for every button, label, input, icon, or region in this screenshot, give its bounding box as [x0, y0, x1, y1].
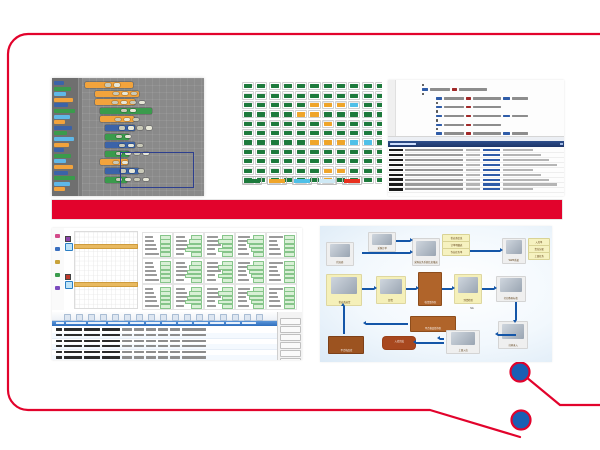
status-cell[interactable]: [255, 157, 267, 165]
status-cell[interactable]: [335, 91, 347, 99]
status-cell[interactable]: [348, 82, 360, 90]
palette-item-any-component[interactable]: [54, 187, 65, 191]
form-value[interactable]: [253, 304, 264, 309]
status-cell[interactable]: [362, 157, 374, 165]
palette-item-screen1[interactable]: [54, 126, 72, 130]
flow-node-icon: [380, 279, 401, 294]
code-token: [430, 88, 450, 90]
status-cell[interactable]: [362, 101, 374, 109]
grid-header-cell[interactable]: [88, 322, 106, 324]
toolbar-button-find[interactable]: [208, 314, 215, 321]
block-socket[interactable]: [146, 126, 152, 129]
palette-item-control[interactable]: [54, 81, 64, 85]
status-cell[interactable]: [362, 120, 374, 128]
status-cell[interactable]: [282, 101, 294, 109]
sheet-tool-rail[interactable]: [52, 228, 64, 310]
status-cell[interactable]: [295, 166, 307, 174]
palette-item-text[interactable]: [54, 98, 73, 102]
toolbar-button-settings[interactable]: [244, 314, 251, 321]
status-cell[interactable]: [282, 110, 294, 118]
status-cell[interactable]: [242, 129, 254, 137]
rail-icon[interactable]: [55, 234, 60, 238]
status-cell[interactable]: [322, 91, 334, 99]
form-label: [238, 279, 249, 281]
status-cell[interactable]: [255, 91, 267, 99]
toolbar-button-open[interactable]: [76, 314, 83, 321]
status-cell[interactable]: [348, 166, 360, 174]
form-group[interactable]: [235, 232, 266, 258]
code-line[interactable]: [388, 131, 564, 135]
status-cell[interactable]: [295, 101, 307, 109]
status-cell[interactable]: [308, 101, 320, 109]
status-cell[interactable]: [348, 148, 360, 156]
grid-header-cell[interactable]: [210, 322, 224, 324]
status-cell[interactable]: [362, 148, 374, 156]
status-cell[interactable]: [375, 148, 382, 156]
console-close-icon[interactable]: [560, 143, 563, 146]
form-label: [207, 274, 215, 276]
status-cell[interactable]: [322, 82, 334, 90]
flow-arrow: [362, 288, 374, 290]
palette-item-web1[interactable]: [54, 154, 71, 158]
status-cell[interactable]: [295, 129, 307, 137]
status-cell[interactable]: [335, 110, 347, 118]
flow-node-label: 不合格品库: [340, 350, 352, 353]
block-socket[interactable]: [139, 101, 145, 104]
block-socket[interactable]: [119, 126, 125, 129]
palette-item-listpicker1[interactable]: [54, 159, 66, 163]
status-cell[interactable]: [255, 129, 267, 137]
grid-header-cell[interactable]: [178, 322, 192, 324]
data-grid[interactable]: [52, 312, 302, 360]
status-cell[interactable]: [322, 101, 334, 109]
log-tag: [389, 174, 403, 176]
palette-item-notifier1[interactable]: [54, 182, 70, 186]
status-cell[interactable]: [269, 110, 281, 118]
status-cell[interactable]: [242, 157, 254, 165]
side-button-1[interactable]: [280, 326, 301, 333]
flow-node-note6[interactable]: 上架任务: [528, 252, 550, 260]
status-cell[interactable]: [348, 138, 360, 146]
table-cell: [182, 356, 206, 358]
code-token: [512, 115, 528, 117]
flow-node-supplier[interactable]: 供应商: [326, 242, 354, 266]
form-value[interactable]: [253, 252, 264, 257]
block-socket[interactable]: [128, 144, 134, 147]
status-cell[interactable]: [255, 166, 267, 174]
sheet-upper-area[interactable]: [52, 228, 302, 310]
status-cell[interactable]: [335, 157, 347, 165]
table-cell: [84, 345, 100, 347]
form-group[interactable]: [266, 232, 297, 258]
status-cell[interactable]: [362, 176, 374, 184]
block-socket[interactable]: [113, 161, 119, 164]
toolbar-button-cut[interactable]: [124, 314, 131, 321]
block-socket[interactable]: [137, 126, 143, 129]
flow-node-erp[interactable]: 采购业务系统信息推送: [412, 238, 440, 266]
status-cell[interactable]: [269, 148, 281, 156]
panel-status-grid[interactable]: [240, 80, 382, 196]
flow-node-icon: [502, 324, 523, 339]
form-value[interactable]: [160, 252, 171, 257]
log-path: [405, 174, 463, 176]
form-value[interactable]: [222, 252, 233, 257]
console-title-bar[interactable]: [388, 141, 564, 147]
form-label: [176, 305, 184, 307]
toolbar-button-help[interactable]: [256, 314, 263, 321]
form-value[interactable]: [191, 252, 202, 257]
form-value[interactable]: [222, 304, 233, 309]
status-cell[interactable]: [295, 120, 307, 128]
status-cell[interactable]: [335, 129, 347, 137]
form-group[interactable]: [173, 258, 204, 284]
toolbar-button-sort[interactable]: [196, 314, 203, 321]
status-cell[interactable]: [242, 82, 254, 90]
table-cell: [158, 334, 168, 336]
side-button-4[interactable]: [280, 350, 301, 357]
status-cell[interactable]: [322, 110, 334, 118]
status-cell[interactable]: [308, 157, 320, 165]
form-value[interactable]: [160, 278, 171, 283]
side-button-0[interactable]: [280, 318, 301, 325]
status-cell[interactable]: [295, 148, 307, 156]
blocks-palette[interactable]: [52, 78, 79, 196]
form-value[interactable]: [253, 278, 264, 283]
status-cell[interactable]: [269, 101, 281, 109]
palette-item-lists[interactable]: [54, 103, 68, 107]
flow-node-label: 卸货: [389, 300, 394, 303]
plan-marker[interactable]: [65, 236, 71, 242]
log-message: [503, 149, 533, 151]
status-cell[interactable]: [282, 82, 294, 90]
status-cell[interactable]: [255, 82, 267, 90]
palette-item-button1[interactable]: [54, 131, 67, 135]
flow-node-done[interactable]: 入库完成: [382, 336, 416, 350]
grid-header-cell[interactable]: [226, 322, 240, 324]
status-cell[interactable]: [322, 120, 334, 128]
form-group[interactable]: [204, 284, 235, 310]
status-cell[interactable]: [335, 82, 347, 90]
block-socket[interactable]: [115, 118, 121, 121]
block-socket[interactable]: [130, 101, 136, 104]
status-cell[interactable]: [308, 82, 320, 90]
block-socket[interactable]: [105, 83, 111, 86]
blocks-canvas[interactable]: [82, 78, 204, 196]
form-group[interactable]: [142, 258, 173, 284]
status-cell[interactable]: [282, 157, 294, 165]
status-cell[interactable]: [269, 82, 281, 90]
gantt-bar[interactable]: [74, 282, 138, 287]
palette-item-sound1[interactable]: [54, 165, 73, 169]
status-cell[interactable]: [362, 91, 374, 99]
rail-icon[interactable]: [55, 247, 60, 251]
palette-item-tinydb1[interactable]: [54, 148, 64, 152]
form-value[interactable]: [284, 304, 295, 309]
form-group[interactable]: [235, 258, 266, 284]
status-cell[interactable]: [375, 138, 382, 146]
flow-node-label: 打印条码标签: [504, 298, 518, 301]
status-cell[interactable]: [362, 110, 374, 118]
code-token: [436, 119, 438, 121]
status-cell[interactable]: [295, 138, 307, 146]
palette-item-logic[interactable]: [54, 87, 71, 91]
status-cell[interactable]: [362, 82, 374, 90]
status-cell[interactable]: [295, 157, 307, 165]
status-cell[interactable]: [335, 148, 347, 156]
grid-toolbar[interactable]: [52, 312, 302, 321]
status-cell[interactable]: [348, 110, 360, 118]
status-cell[interactable]: [269, 91, 281, 99]
toolbar-button-undo[interactable]: [160, 314, 167, 321]
block-socket[interactable]: [119, 144, 125, 147]
code-token: [473, 115, 501, 117]
form-value[interactable]: [191, 304, 202, 309]
status-cell[interactable]: [322, 138, 334, 146]
plan-node[interactable]: [65, 243, 73, 251]
form-group[interactable]: [235, 284, 266, 310]
flow-node-barcode[interactable]: 打印条码标签: [496, 276, 526, 302]
flow-node-inspect[interactable]: 到货检验: [454, 274, 482, 304]
log-time: [466, 164, 480, 166]
log-level: [483, 188, 500, 190]
grid-header-cell[interactable]: [194, 322, 208, 324]
palette-item-label1[interactable]: [54, 137, 74, 141]
form-label: [207, 270, 221, 272]
rail-icon[interactable]: [55, 286, 60, 290]
status-cell[interactable]: [322, 148, 334, 156]
grid-header-cell[interactable]: [66, 322, 86, 324]
toolbar-button-save[interactable]: [88, 314, 95, 321]
table-cell: [158, 340, 168, 342]
grid-header-cell[interactable]: [108, 322, 128, 324]
status-cell[interactable]: [242, 91, 254, 99]
status-cell[interactable]: [282, 148, 294, 156]
form-value[interactable]: [160, 304, 171, 309]
log-path: [405, 159, 463, 161]
flow-node-reject_store[interactable]: 不合格品库: [328, 336, 364, 354]
status-cell[interactable]: [348, 101, 360, 109]
status-cell[interactable]: [255, 138, 267, 146]
toolbar-button-print[interactable]: [100, 314, 107, 321]
status-cell[interactable]: [348, 120, 360, 128]
toolbar-button-paste[interactable]: [148, 314, 155, 321]
grid-header-cell[interactable]: [56, 322, 64, 324]
toolbar-button-redo[interactable]: [172, 314, 179, 321]
status-cell[interactable]: [255, 120, 267, 128]
status-cell[interactable]: [375, 129, 382, 137]
status-cell[interactable]: [295, 91, 307, 99]
flow-node-waiting[interactable]: 收货暂存区: [418, 272, 442, 306]
palette-item-math[interactable]: [54, 92, 66, 96]
flow-arrow-head: [437, 336, 440, 340]
side-button-3[interactable]: [280, 342, 301, 349]
form-group[interactable]: [142, 232, 173, 258]
grid-header-cell[interactable]: [130, 322, 144, 324]
form-label: [269, 253, 282, 255]
form-label: [145, 279, 159, 281]
status-cell[interactable]: [335, 138, 347, 146]
form-group[interactable]: [204, 258, 235, 284]
status-cell[interactable]: [282, 91, 294, 99]
form-value[interactable]: [191, 278, 202, 283]
block-socket[interactable]: [121, 101, 127, 104]
status-cell[interactable]: [375, 120, 382, 128]
block-socket[interactable]: [137, 144, 143, 147]
code-token: [436, 110, 438, 112]
flow-node-unload[interactable]: 卸货: [376, 276, 406, 304]
table-cell: [122, 328, 132, 330]
status-cell[interactable]: [295, 110, 307, 118]
status-cell[interactable]: [255, 148, 267, 156]
form-group[interactable]: [173, 284, 204, 310]
toolbar-button-copy[interactable]: [136, 314, 143, 321]
flow-node-icon: [500, 278, 521, 292]
toolbar-button-preview[interactable]: [112, 314, 119, 321]
status-cell[interactable]: [322, 166, 334, 174]
flow-node-note3[interactable]: 作业任务单: [442, 248, 470, 256]
status-cell[interactable]: [375, 82, 382, 90]
status-cell[interactable]: [308, 110, 320, 118]
flow-node-deliver[interactable]: 供应商送货: [326, 274, 362, 306]
form-value[interactable]: [284, 252, 295, 257]
form-label: [145, 305, 159, 307]
toolbar-button-filter[interactable]: [184, 314, 191, 321]
rail-icon[interactable]: [55, 273, 60, 277]
status-cell[interactable]: [362, 138, 374, 146]
flow-arrow-head: [363, 321, 366, 325]
block-socket[interactable]: [128, 126, 134, 129]
code-token: [436, 128, 438, 130]
status-cell[interactable]: [362, 166, 374, 174]
status-cell[interactable]: [375, 176, 382, 184]
panel-spreadsheet[interactable]: [52, 228, 302, 360]
status-cell[interactable]: [308, 129, 320, 137]
status-cell[interactable]: [375, 91, 382, 99]
status-cell[interactable]: [375, 101, 382, 109]
block-socket[interactable]: [112, 101, 118, 104]
sheet-gantt-grid[interactable]: [74, 231, 138, 309]
status-cell[interactable]: [269, 157, 281, 165]
panel-flow-diagram[interactable]: 供应商采购订单采购业务系统信息推送供应商信息订单明细表作业任务单WMS系统入库单…: [320, 226, 552, 362]
form-group[interactable]: [266, 258, 297, 284]
status-cell[interactable]: [269, 120, 281, 128]
status-cell[interactable]: [375, 166, 382, 174]
flow-arrow-head: [494, 286, 497, 290]
status-cell[interactable]: [269, 138, 281, 146]
form-group[interactable]: [142, 284, 173, 310]
grid-header-cell[interactable]: [146, 322, 160, 324]
status-cell[interactable]: [269, 166, 281, 174]
palette-item-clock1[interactable]: [54, 143, 69, 147]
flow-arrow-head: [416, 286, 419, 290]
status-cell[interactable]: [322, 129, 334, 137]
status-cell[interactable]: [255, 101, 267, 109]
status-cell[interactable]: [242, 101, 254, 109]
flow-node-icon: [372, 234, 392, 244]
palette-item-variables[interactable]: [54, 115, 70, 119]
grid-header-cell[interactable]: [162, 322, 176, 324]
toolbar-button-refresh[interactable]: [232, 314, 239, 321]
status-cell[interactable]: [308, 91, 320, 99]
status-cell[interactable]: [242, 166, 254, 174]
status-cell[interactable]: [362, 129, 374, 137]
status-cell[interactable]: [375, 110, 382, 118]
plan-marker[interactable]: [65, 274, 71, 280]
status-cell[interactable]: [242, 138, 254, 146]
rail-icon[interactable]: [55, 260, 60, 264]
status-cell[interactable]: [375, 157, 382, 165]
status-cell[interactable]: [295, 82, 307, 90]
status-cell[interactable]: [335, 120, 347, 128]
form-label: [207, 253, 217, 255]
form-group[interactable]: [266, 284, 297, 310]
status-cell[interactable]: [255, 110, 267, 118]
flow-node-wms[interactable]: WMS系统: [502, 238, 526, 264]
plan-node[interactable]: [65, 281, 73, 289]
log-message: [503, 179, 549, 181]
panel-blocks-editor[interactable]: [52, 78, 204, 196]
grid-side-buttons[interactable]: [277, 312, 302, 360]
status-cell[interactable]: [308, 148, 320, 156]
status-cell[interactable]: [308, 166, 320, 174]
toolbar-button-export[interactable]: [220, 314, 227, 321]
palette-item-canvas1[interactable]: [54, 171, 68, 175]
status-cell[interactable]: [348, 129, 360, 137]
status-cell[interactable]: [282, 129, 294, 137]
log-level: [483, 179, 500, 181]
form-value[interactable]: [284, 278, 295, 283]
status-cell[interactable]: [282, 120, 294, 128]
log-message: [503, 159, 549, 161]
log-row[interactable]: [388, 187, 564, 192]
side-button-2[interactable]: [280, 334, 301, 341]
status-cell[interactable]: [348, 157, 360, 165]
side-button-5[interactable]: [280, 358, 301, 360]
panel-code-editor[interactable]: [388, 80, 564, 196]
status-cell[interactable]: [282, 166, 294, 174]
block-socket[interactable]: [133, 118, 139, 121]
status-cell[interactable]: [335, 166, 347, 174]
status-cell[interactable]: [308, 120, 320, 128]
gantt-bar[interactable]: [74, 244, 138, 249]
toolbar-button-new[interactable]: [64, 314, 71, 321]
status-cell[interactable]: [322, 157, 334, 165]
palette-item-colors[interactable]: [54, 109, 75, 113]
block-socket[interactable]: [125, 135, 131, 138]
status-cell[interactable]: [335, 101, 347, 109]
block-socket[interactable]: [114, 83, 120, 86]
block-socket[interactable]: [124, 118, 130, 121]
form-group[interactable]: [173, 232, 204, 258]
status-grid[interactable]: [242, 82, 382, 184]
status-cell[interactable]: [348, 91, 360, 99]
palette-item-procedures[interactable]: [54, 120, 65, 124]
status-cell[interactable]: [242, 120, 254, 128]
form-value[interactable]: [222, 278, 233, 283]
palette-item-sprite1[interactable]: [54, 176, 75, 180]
status-cell[interactable]: [269, 129, 281, 137]
status-cell[interactable]: [282, 138, 294, 146]
status-cell[interactable]: [308, 138, 320, 146]
form-group[interactable]: [204, 232, 235, 258]
form-label: [269, 240, 277, 242]
flow-node-order[interactable]: 采购订单: [368, 232, 396, 252]
table-row[interactable]: [52, 355, 302, 360]
status-cell[interactable]: [242, 110, 254, 118]
status-cell[interactable]: [242, 148, 254, 156]
grid-header-cell[interactable]: [242, 322, 256, 324]
flow-node-shelf[interactable]: 上架入位: [446, 330, 480, 354]
